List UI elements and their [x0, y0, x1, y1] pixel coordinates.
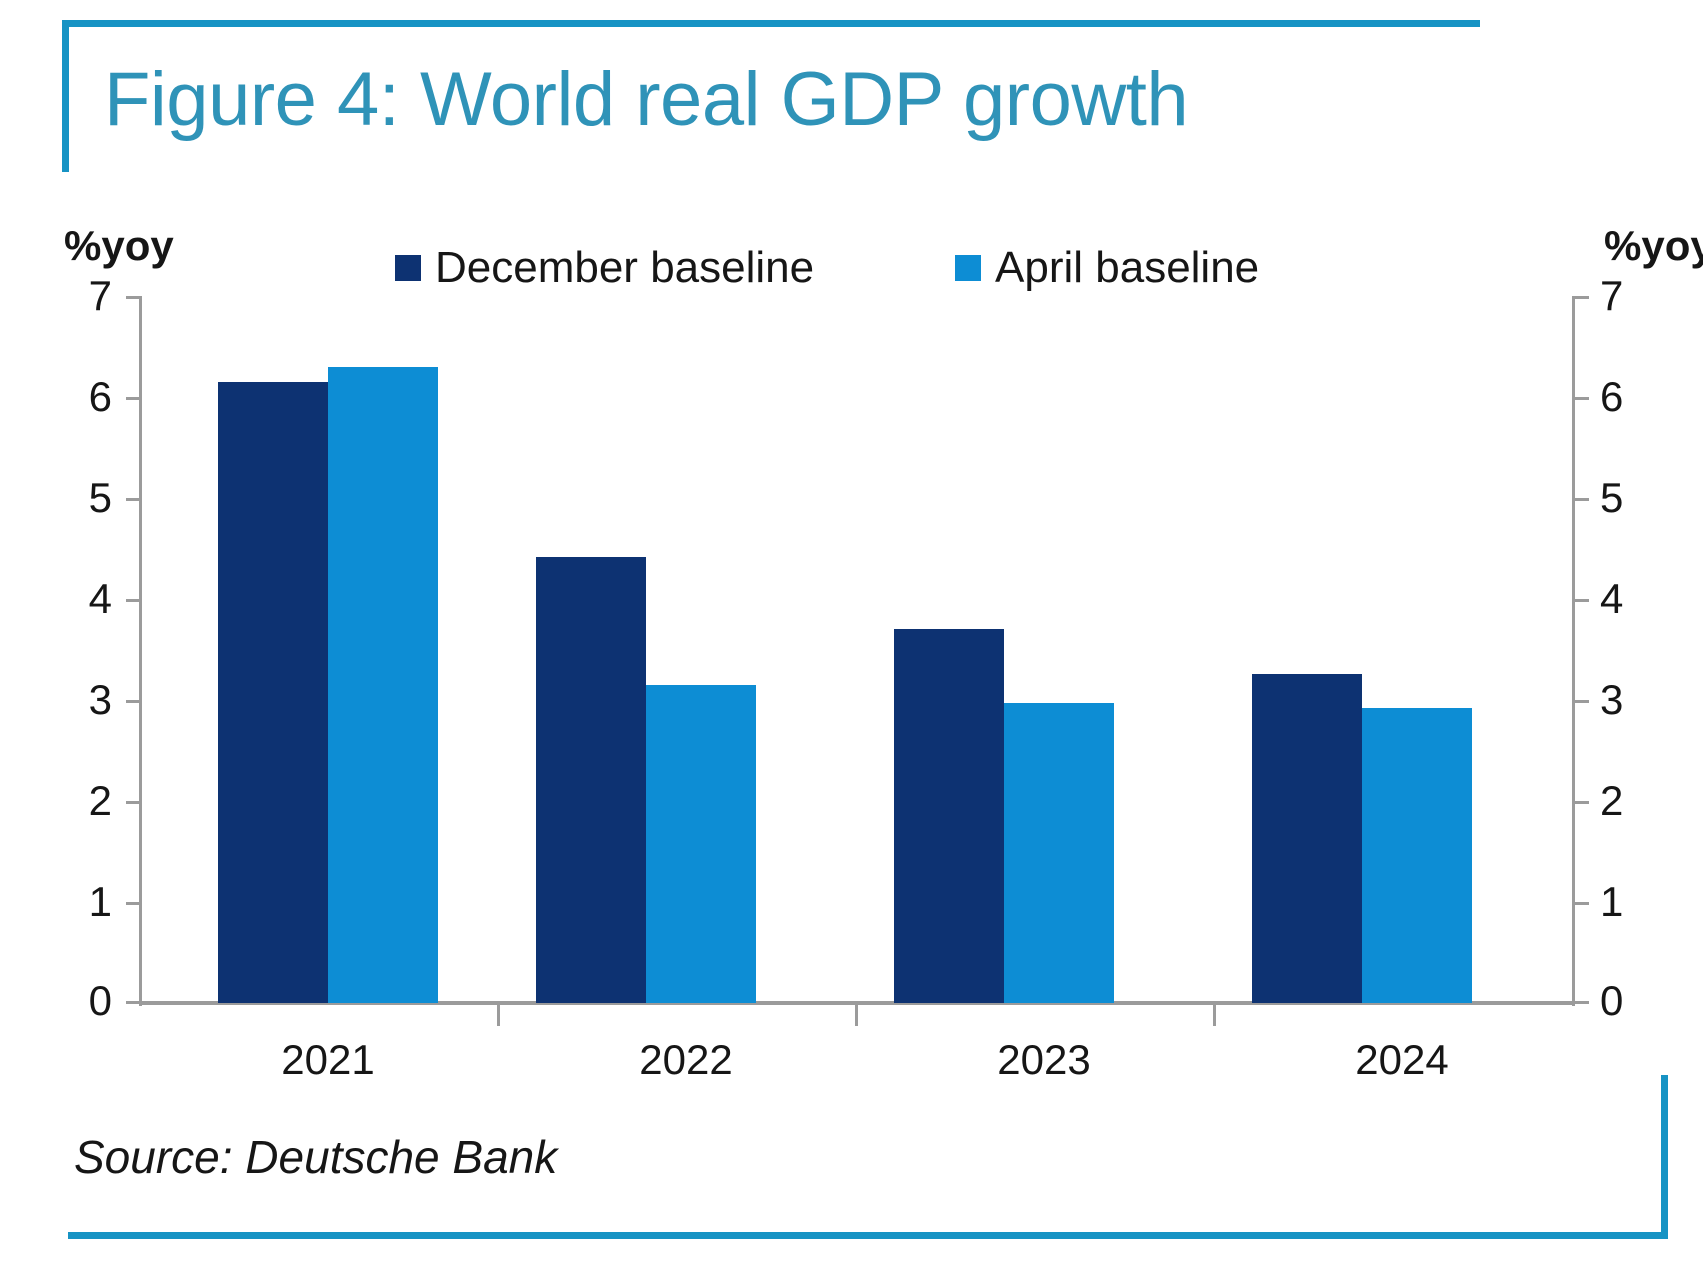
left-tick-7 [126, 296, 140, 299]
right-axis-label-4: 4 [1600, 575, 1660, 623]
x-axis-label-2021: 2021 [281, 1036, 374, 1084]
left-tick-3 [126, 700, 140, 703]
x-separator-tick-3 [1213, 1004, 1216, 1026]
right-axis-label-3: 3 [1600, 676, 1660, 724]
right-axis-unit-label: %yoy [1604, 222, 1703, 270]
right-tick-5 [1575, 498, 1589, 501]
left-tick-0 [126, 1001, 140, 1004]
bar-april-2022[interactable] [646, 685, 756, 1003]
bar-april-2024[interactable] [1362, 708, 1472, 1003]
left-axis-label-1: 1 [52, 878, 112, 926]
bar-april-2023[interactable] [1004, 703, 1114, 1003]
left-axis-unit-label: %yoy [64, 222, 174, 270]
left-axis-label-2: 2 [52, 777, 112, 825]
bars-layer [140, 296, 1573, 1003]
left-axis-label-5: 5 [52, 474, 112, 522]
right-tick-3 [1575, 700, 1589, 703]
chart-plot-area: %yoy %yoy 7 6 5 4 3 2 1 0 7 6 5 4 [0, 0, 1703, 1280]
right-axis-label-6: 6 [1600, 373, 1660, 421]
left-tick-2 [126, 801, 140, 804]
right-tick-4 [1575, 599, 1589, 602]
left-tick-4 [126, 599, 140, 602]
bar-december-2022[interactable] [536, 557, 646, 1003]
left-tick-6 [126, 397, 140, 400]
right-axis-label-0: 0 [1600, 977, 1660, 1025]
left-tick-1 [126, 902, 140, 905]
left-axis-label-7: 7 [52, 272, 112, 320]
left-axis-label-4: 4 [52, 575, 112, 623]
right-axis-label-2: 2 [1600, 777, 1660, 825]
right-axis-label-5: 5 [1600, 474, 1660, 522]
left-axis-label-3: 3 [52, 676, 112, 724]
right-tick-0 [1575, 1001, 1589, 1004]
x-axis-label-2022: 2022 [639, 1036, 732, 1084]
bar-december-2021[interactable] [218, 382, 328, 1003]
figure-container: Figure 4: World real GDP growth December… [0, 0, 1703, 1280]
x-separator-tick-1 [497, 1004, 500, 1026]
right-tick-6 [1575, 397, 1589, 400]
right-tick-7 [1575, 296, 1589, 299]
x-axis-label-2024: 2024 [1355, 1036, 1448, 1084]
bar-december-2024[interactable] [1252, 674, 1362, 1003]
x-separator-tick-2 [855, 1004, 858, 1026]
x-axis-label-2023: 2023 [997, 1036, 1090, 1084]
right-axis-label-7: 7 [1600, 272, 1660, 320]
bar-december-2023[interactable] [894, 629, 1004, 1003]
left-axis-label-0: 0 [52, 977, 112, 1025]
left-tick-5 [126, 498, 140, 501]
right-axis-label-1: 1 [1600, 878, 1660, 926]
source-note: Source: Deutsche Bank [74, 1130, 557, 1184]
bar-april-2021[interactable] [328, 367, 438, 1003]
left-axis-label-6: 6 [52, 373, 112, 421]
right-tick-1 [1575, 902, 1589, 905]
right-tick-2 [1575, 801, 1589, 804]
